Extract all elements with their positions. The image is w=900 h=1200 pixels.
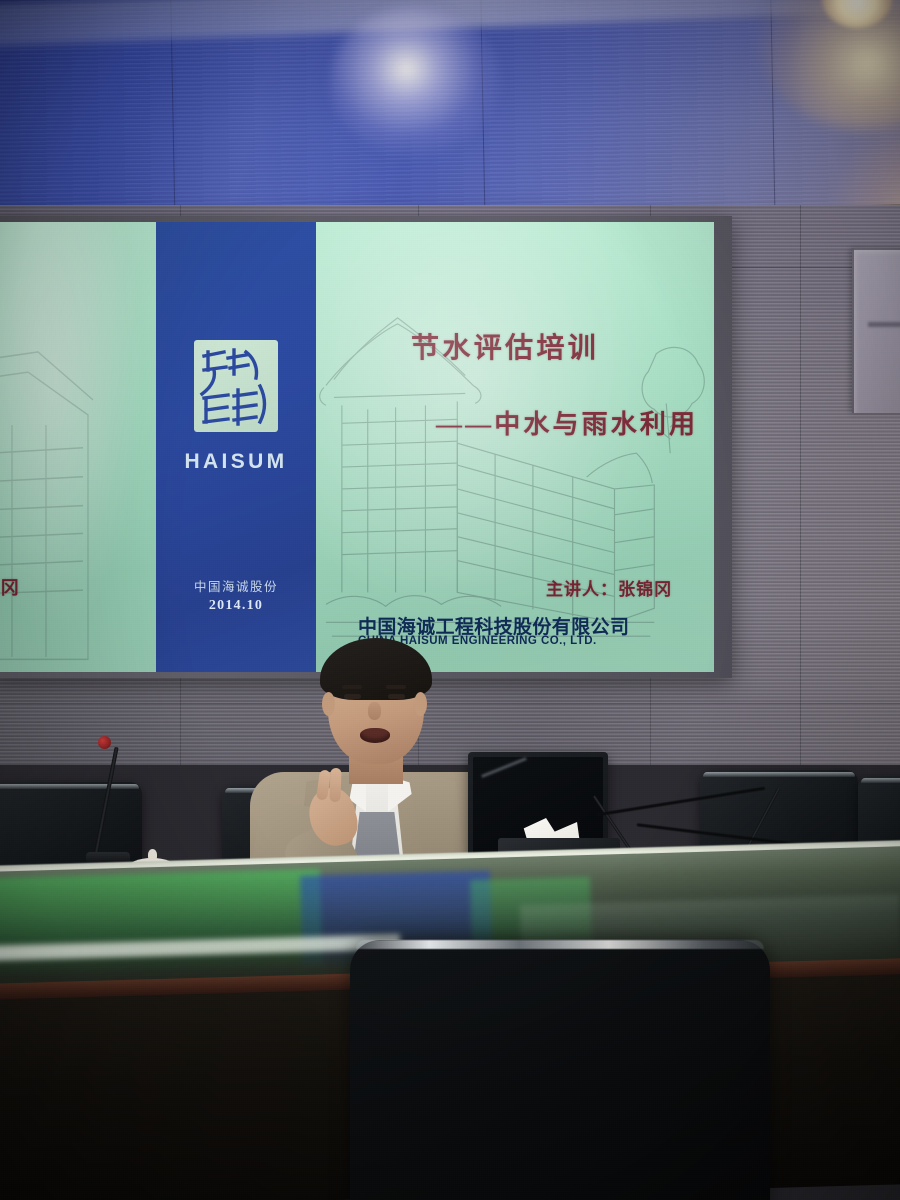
seal-script-characters-icon: [194, 340, 278, 432]
speaker-eye: [344, 694, 361, 699]
wall-panel-marking: [868, 322, 900, 327]
wall-seam: [480, 0, 485, 212]
wall-seam: [770, 0, 775, 207]
projection-screen-frame: 训 雨水利用 讲人：张锦冈 限公司 CO., LTD.: [0, 216, 732, 678]
logo-date: 2014.10: [156, 598, 316, 614]
haisum-wordmark: HAISUM: [156, 450, 316, 474]
speaker-eyebrow: [386, 685, 406, 689]
haisum-seal-icon: [194, 340, 278, 432]
haisum-logo-panel: HAISUM 中国海诚股份 2014.10: [156, 222, 316, 672]
speaker-mouth: [360, 728, 390, 743]
slide-title: 节水评估培训: [411, 326, 599, 366]
speaker-nose: [368, 702, 381, 720]
left-slide-panel: 训 雨水利用 讲人：张锦冈 限公司 CO., LTD.: [0, 222, 156, 672]
projection-screen: 训 雨水利用 讲人：张锦冈 限公司 CO., LTD.: [0, 222, 714, 672]
conference-room-photo: 训 雨水利用 讲人：张锦冈 限公司 CO., LTD.: [0, 0, 900, 1200]
speaker-hair: [320, 638, 432, 700]
wall-seam: [800, 205, 801, 765]
slide-presenter: 主讲人：张锦冈: [546, 575, 672, 600]
speaker-eyebrow: [342, 685, 362, 689]
main-slide-panel: 节水评估培训 ——中水与雨水利用 主讲人：张锦冈 中国海诚工程科技股份有限公司 …: [316, 222, 714, 672]
microphone-head: [98, 736, 111, 749]
recessed-wall-panel: [852, 248, 900, 413]
left-slide-presenter: 讲人：张锦冈: [0, 574, 21, 600]
teacup-knob: [148, 849, 157, 860]
slide-subtitle: ——中水与雨水利用: [436, 404, 698, 441]
logo-company-short-cn: 中国海诚股份: [156, 576, 316, 595]
building-sketch-icon: [0, 294, 148, 672]
foreground-chair: [350, 940, 770, 1200]
speaker-ear: [414, 692, 427, 716]
speaker-ear: [322, 692, 335, 716]
speaker-eye: [388, 694, 405, 699]
speaker-finger: [329, 768, 341, 802]
